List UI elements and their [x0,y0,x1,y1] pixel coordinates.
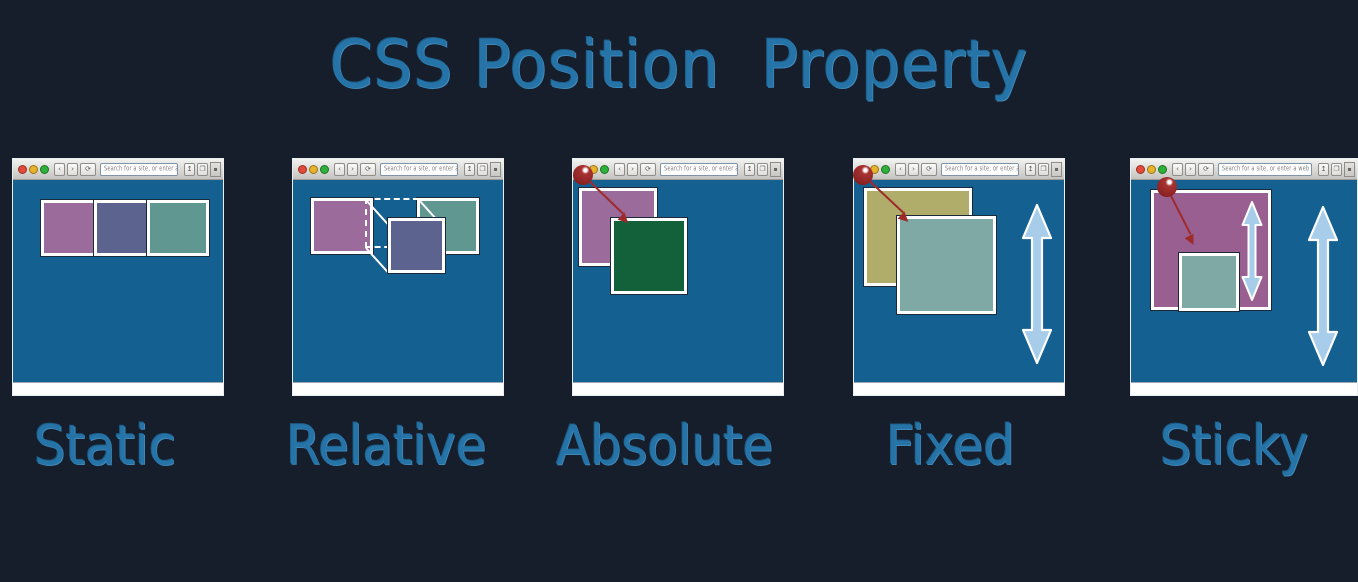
address-bar[interactable]: Search for a site, or enter a web addres… [660,163,738,176]
fixed-scroll-arrow [1020,202,1054,366]
relative-connector-bottom-left [365,247,389,274]
label-static: Static [34,414,176,477]
browser-titlebar: ‹ › ⟳ Search for a site, or enter a web … [854,159,1064,180]
label-absolute: Absolute [556,414,773,477]
back-button[interactable]: ‹ [1172,163,1183,176]
tabs-icon[interactable]: ❐ [477,163,488,176]
viewport-static [13,180,223,395]
sidebar-toggle-icon[interactable]: ▪ [1344,162,1355,177]
maximize-icon[interactable] [1158,165,1167,174]
refresh-button[interactable]: ⟳ [640,163,656,176]
relative-box-1 [311,198,373,254]
forward-button[interactable]: › [347,163,358,176]
maximize-icon[interactable] [40,165,49,174]
back-button[interactable]: ‹ [54,163,65,176]
browser-window-absolute: ‹ › ⟳ Search for a site, or enter a web … [572,158,784,396]
sticky-inner-scroll-arrow [1240,199,1264,303]
minimize-icon[interactable] [309,165,318,174]
back-button[interactable]: ‹ [895,163,906,176]
browser-titlebar: ‹ › ⟳ Search for a site, or enter a web … [573,159,783,180]
sidebar-toggle-icon[interactable]: ▪ [490,162,501,177]
browser-titlebar: ‹ › ⟳ Search for a site, or enter a web … [293,159,503,180]
forward-button[interactable]: › [1185,163,1196,176]
forward-button[interactable]: › [67,163,78,176]
address-bar[interactable]: Search for a site, or enter a web addres… [380,163,458,176]
label-fixed: Fixed [886,414,1015,477]
horizontal-scrollbar[interactable] [1131,382,1357,395]
back-button[interactable]: ‹ [334,163,345,176]
traffic-lights [298,165,329,174]
refresh-button[interactable]: ⟳ [1198,163,1214,176]
address-bar[interactable]: Search for a site, or enter a web addres… [1218,163,1312,176]
tabs-icon[interactable]: ❐ [757,163,768,176]
forward-button[interactable]: › [627,163,638,176]
horizontal-scrollbar[interactable] [293,382,503,395]
sidebar-toggle-icon[interactable]: ▪ [1051,162,1062,177]
sidebar-toggle-icon[interactable]: ▪ [210,162,221,177]
share-icon[interactable]: ↥ [1025,163,1036,176]
close-icon[interactable] [298,165,307,174]
relative-box-2-moved [388,218,445,273]
share-icon[interactable]: ↥ [184,163,195,176]
forward-button[interactable]: › [908,163,919,176]
horizontal-scrollbar[interactable] [854,382,1064,395]
fixed-pin-dot [853,165,873,185]
back-button[interactable]: ‹ [614,163,625,176]
refresh-button[interactable]: ⟳ [360,163,376,176]
close-icon[interactable] [1136,165,1145,174]
viewport-sticky [1131,180,1357,395]
traffic-lights [1136,165,1167,174]
sticky-box [1179,253,1239,311]
vertical-double-arrow-icon [1020,202,1054,366]
fixed-box-2 [897,216,996,314]
horizontal-scrollbar[interactable] [573,382,783,395]
sticky-container [1151,190,1271,310]
browser-window-relative: ‹ › ⟳ Search for a site, or enter a web … [292,158,504,396]
viewport-absolute [573,180,783,395]
browser-window-static: ‹ › ⟳ Search for a site, or enter a web … [12,158,224,396]
viewport-fixed [854,180,1064,395]
static-box-3 [147,200,209,256]
address-bar[interactable]: Search for a site, or enter a web addres… [100,163,178,176]
label-sticky: Sticky [1160,414,1309,477]
poster-canvas: CSS Position Property ‹ › ⟳ Search for a… [0,0,1358,582]
address-bar-text: Search for a site, or enter a web addres… [104,165,178,173]
titlebar-right-buttons: ↥ ❐ [462,163,488,176]
maximize-icon[interactable] [320,165,329,174]
absolute-box-2 [611,218,687,294]
titlebar-right-buttons: ↥ ❐ [1023,163,1049,176]
maximize-icon[interactable] [600,165,609,174]
titlebar-right-buttons: ↥ ❐ [742,163,768,176]
tabs-icon[interactable]: ❐ [1331,163,1342,176]
horizontal-scrollbar[interactable] [13,382,223,395]
minimize-icon[interactable] [1147,165,1156,174]
page-title: CSS Position Property [48,26,1311,103]
browser-titlebar: ‹ › ⟳ Search for a site, or enter a web … [13,159,223,180]
traffic-lights [18,165,49,174]
tabs-icon[interactable]: ❐ [197,163,208,176]
share-icon[interactable]: ↥ [464,163,475,176]
refresh-button[interactable]: ⟳ [80,163,96,176]
sticky-page-scroll-arrow [1306,204,1340,368]
titlebar-right-buttons: ↥ ❐ [1316,163,1342,176]
share-icon[interactable]: ↥ [744,163,755,176]
close-icon[interactable] [18,165,27,174]
address-bar-text: Search for a site, or enter a web addres… [664,165,738,173]
address-bar[interactable]: Search for a site, or enter a web addres… [941,163,1019,176]
share-icon[interactable]: ↥ [1318,163,1329,176]
address-bar-text: Search for a site, or enter a web addres… [945,165,1019,173]
maximize-icon[interactable] [881,165,890,174]
absolute-pin-dot [573,165,593,185]
address-bar-text: Search for a site, or enter a web addres… [384,165,458,173]
browser-window-fixed: ‹ › ⟳ Search for a site, or enter a web … [853,158,1065,396]
sidebar-toggle-icon[interactable]: ▪ [770,162,781,177]
vertical-double-arrow-icon [1306,204,1340,368]
browser-window-sticky: ‹ › ⟳ Search for a site, or enter a web … [1130,158,1358,396]
refresh-button[interactable]: ⟳ [921,163,937,176]
titlebar-right-buttons: ↥ ❐ [182,163,208,176]
tabs-icon[interactable]: ❐ [1038,163,1049,176]
viewport-relative [293,180,503,395]
minimize-icon[interactable] [29,165,38,174]
label-relative: Relative [286,414,486,477]
sticky-pin-dot [1157,177,1177,197]
vertical-double-arrow-icon [1240,199,1264,303]
address-bar-text: Search for a site, or enter a web addres… [1222,165,1312,173]
